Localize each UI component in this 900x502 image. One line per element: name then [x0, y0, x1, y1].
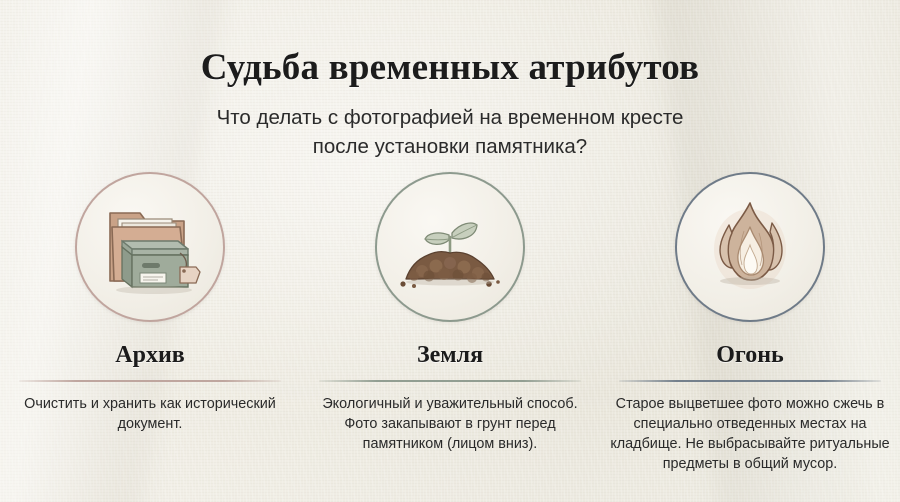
card-earth-divider	[319, 380, 581, 382]
card-archive-text: Очистить и хранить как исторический доку…	[10, 394, 290, 434]
card-archive-divider	[19, 380, 281, 382]
card-fire-text: Старое выцветшее фото можно сжечь в спец…	[610, 394, 890, 474]
slide-content: Судьба временных атрибутов Что делать с …	[0, 0, 900, 502]
card-fire-icon-frame	[675, 172, 825, 322]
page-subtitle: Что делать с фотографией на временном кр…	[0, 103, 900, 161]
card-archive-icon-frame	[75, 172, 225, 322]
page-subtitle-line-1: Что делать с фотографией на временном кр…	[217, 106, 684, 129]
card-earth-icon-frame	[375, 172, 525, 322]
card-earth-title: Земля	[417, 342, 483, 369]
page-subtitle-line-2: после установки памятника?	[0, 132, 900, 161]
card-archive[interactable]: Архив Очистить и хранить как исторически…	[0, 172, 300, 474]
card-fire-divider	[619, 380, 881, 382]
card-earth-text: Экологичный и уважительный способ. Фото …	[310, 394, 590, 454]
page-title: Судьба временных атрибутов	[0, 46, 900, 89]
card-fire[interactable]: Огонь Старое выцветшее фото можно сжечь …	[600, 172, 900, 474]
card-list: Архив Очистить и хранить как исторически…	[0, 172, 900, 474]
sprout-soil-icon	[392, 195, 508, 299]
card-archive-title: Архив	[115, 342, 184, 369]
slide-canvas: Судьба временных атрибутов Что делать с …	[0, 0, 900, 502]
archive-box-icon	[92, 195, 208, 299]
card-fire-title: Огонь	[716, 342, 784, 369]
flame-icon	[692, 195, 808, 299]
card-earth[interactable]: Земля Экологичный и уважительный способ.…	[300, 172, 600, 474]
